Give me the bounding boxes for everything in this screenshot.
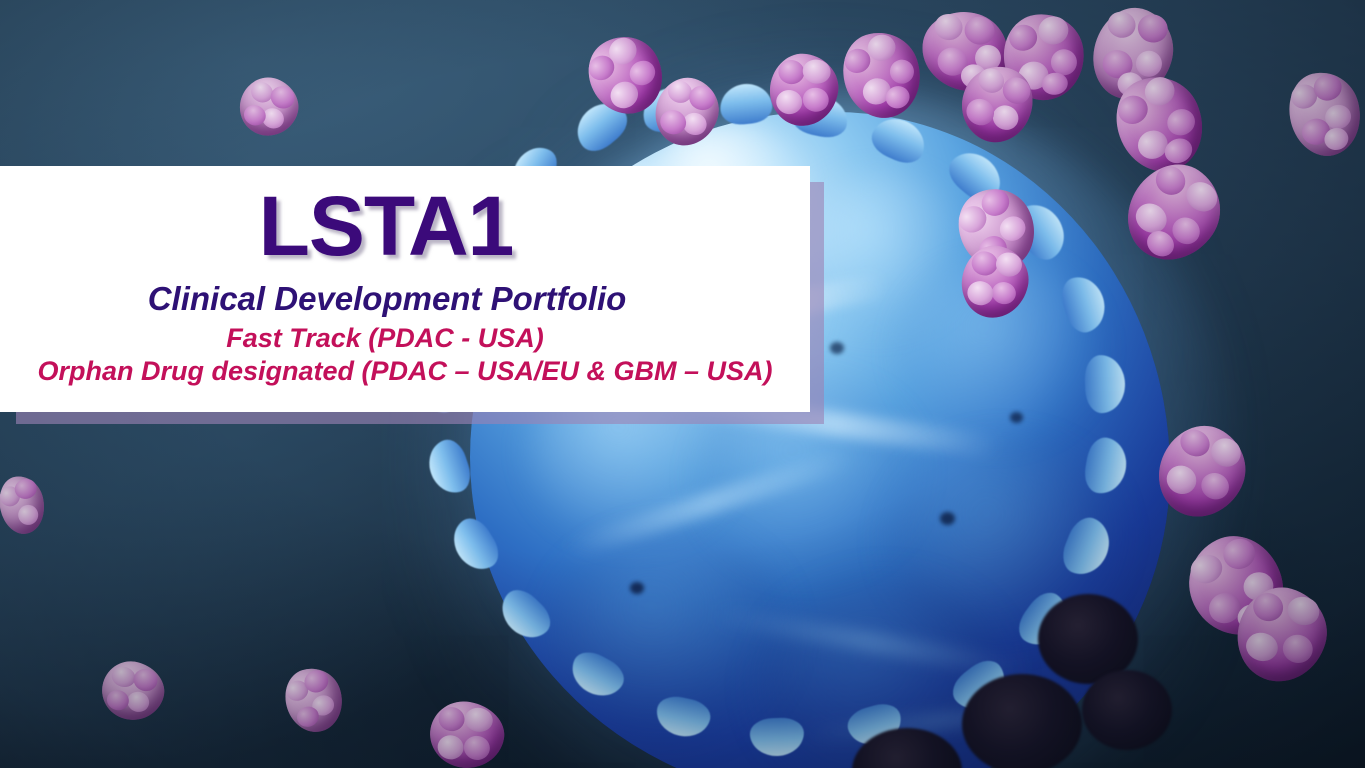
fast-track-designation-label: Fast Track (PDAC - USA): [226, 324, 584, 353]
presentation-slide: LSTA1 Clinical Development Portfolio Fas…: [0, 0, 1365, 768]
page-subtitle: Clinical Development Portfolio: [148, 282, 663, 317]
title-panel: LSTA1 Clinical Development Portfolio Fas…: [0, 166, 810, 412]
page-title: LSTA1: [259, 184, 552, 268]
orphan-drug-designation-label: Orphan Drug designated (PDAC – USA/EU & …: [37, 357, 772, 386]
